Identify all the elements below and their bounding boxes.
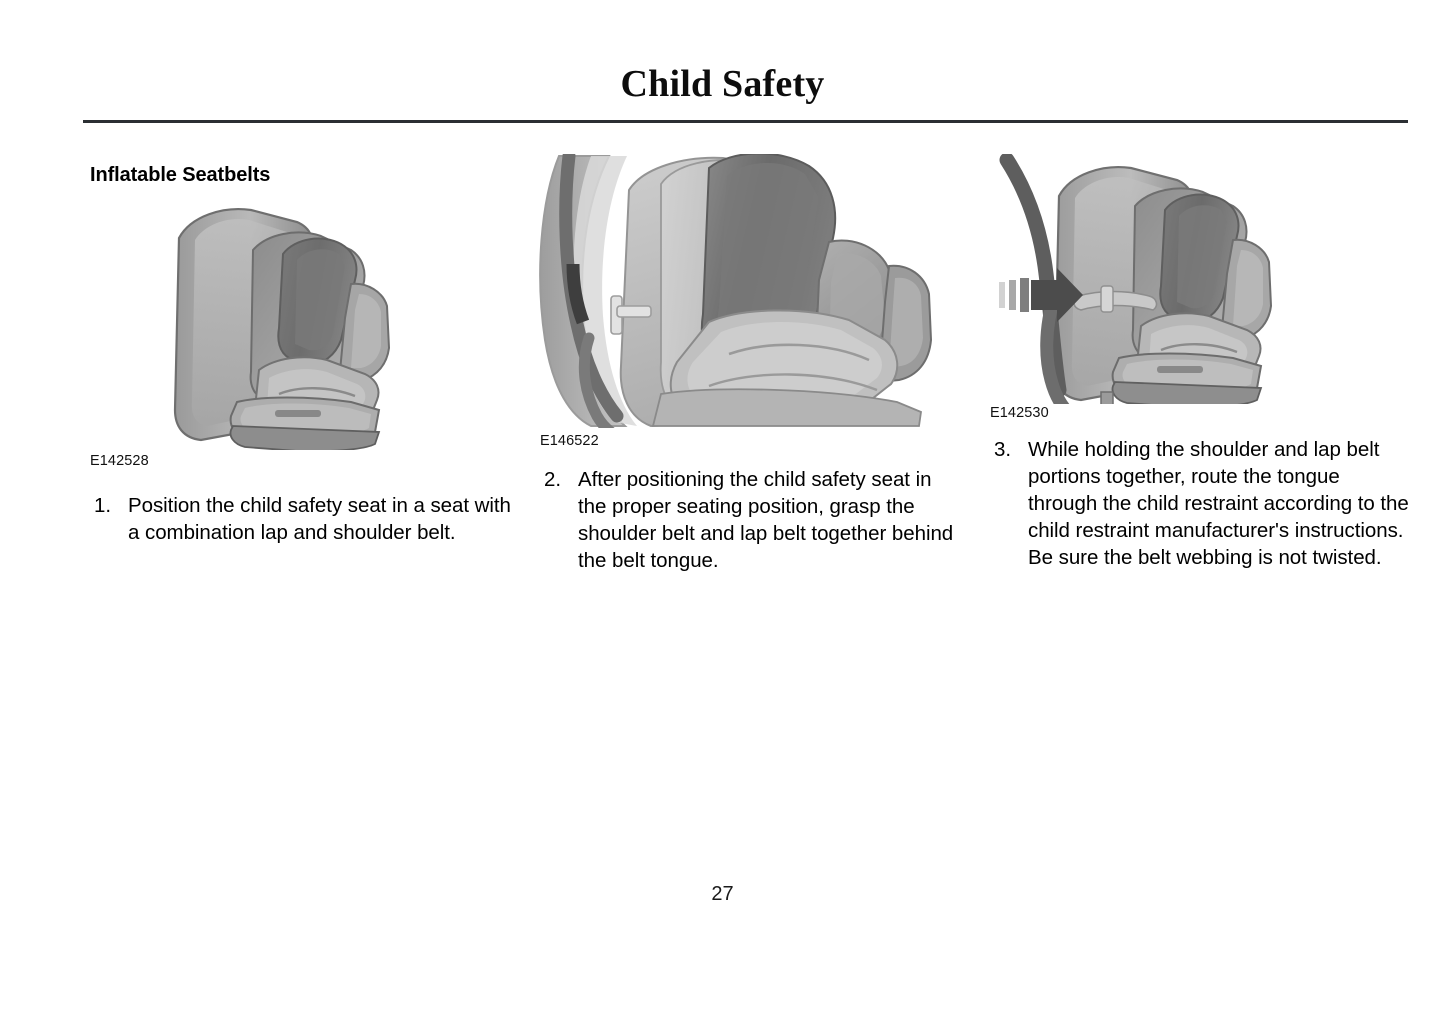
child-safety-seat-belt-tongue-closeup-icon	[533, 154, 963, 428]
figure-3: E142530	[983, 154, 1413, 422]
figure-1-caption: E142528	[90, 452, 513, 470]
content-columns: Inflatable Seatbelts	[0, 148, 1445, 668]
step-2: 2. After positioning the child safety se…	[540, 466, 963, 574]
step-3-number: 3.	[990, 436, 1028, 571]
header-divider	[83, 120, 1408, 123]
figure-3-caption: E142530	[990, 404, 1413, 422]
step-3-text: While holding the shoulder and lap belt …	[1028, 436, 1413, 571]
step-1-number: 1.	[90, 492, 128, 546]
figure-2: E146522	[533, 154, 963, 450]
section-heading: Inflatable Seatbelts	[90, 162, 513, 188]
illustration-child-seat-plain	[83, 188, 513, 450]
illustration-child-seat-closeup	[533, 154, 963, 428]
page-header: Child Safety	[0, 62, 1445, 106]
page-title: Child Safety	[0, 62, 1445, 106]
step-2-number: 2.	[540, 466, 578, 574]
child-safety-seat-belt-routing-arrow-icon	[983, 154, 1413, 404]
column-1: Inflatable Seatbelts	[83, 148, 513, 546]
illustration-child-seat-belt-routed	[983, 154, 1413, 404]
figure-1: E142528	[83, 188, 513, 470]
figure-2-caption: E146522	[540, 432, 963, 450]
step-1: 1. Position the child safety seat in a s…	[90, 492, 513, 546]
step-1-text: Position the child safety seat in a seat…	[128, 492, 513, 546]
column-2: E146522 2. After positioning the child s…	[533, 148, 963, 574]
step-3: 3. While holding the shoulder and lap be…	[990, 436, 1413, 571]
column-3: E142530 3. While holding the shoulder an…	[983, 148, 1413, 571]
child-safety-seat-on-vehicle-seat-icon	[83, 188, 513, 450]
step-2-text: After positioning the child safety seat …	[578, 466, 963, 574]
page-number: 27	[0, 881, 1445, 907]
